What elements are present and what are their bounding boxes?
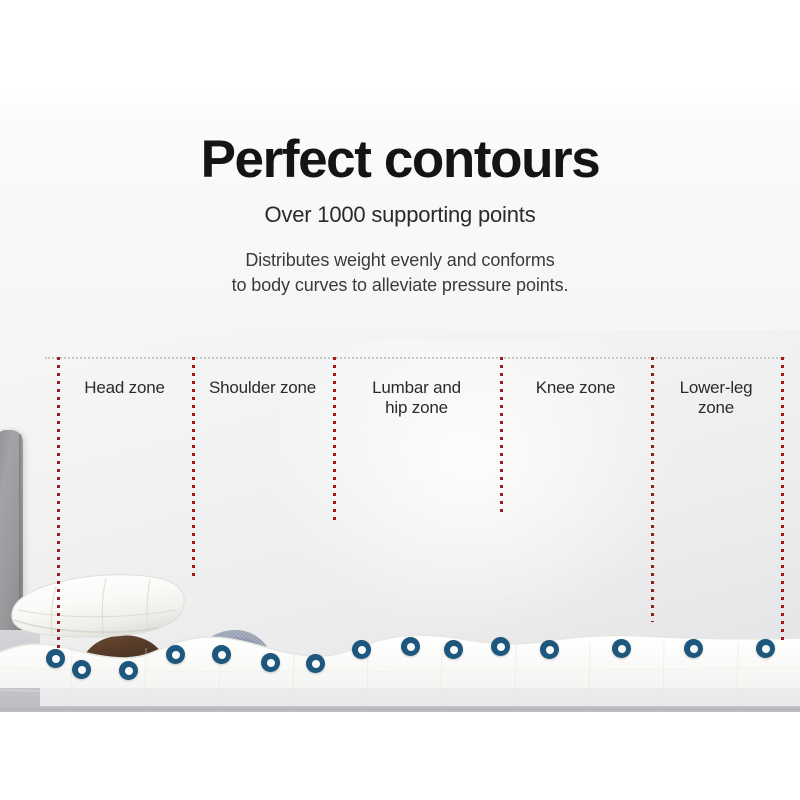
support-point-marker <box>72 660 91 679</box>
support-point-marker <box>166 645 185 664</box>
support-point-marker <box>212 645 231 664</box>
support-point-marker <box>684 639 703 658</box>
zone-divider-6 <box>781 357 784 640</box>
description: Distributes weight evenly and conforms t… <box>0 248 800 298</box>
zone-divider-1 <box>57 357 60 652</box>
zone-label-line-1: Lower-leg <box>651 378 781 398</box>
zone-label-line-1: Shoulder zone <box>192 378 333 398</box>
description-line-2: to body curves to alleviate pressure poi… <box>0 273 800 298</box>
zone-label-line-1: Head zone <box>57 378 192 398</box>
zone-label-line-1: Lumbar and <box>333 378 500 398</box>
mattress-base <box>0 706 800 712</box>
background-top <box>0 0 800 95</box>
zone-label-2: Shoulder zone <box>192 378 333 398</box>
page-title: Perfect contours <box>0 130 800 190</box>
zone-label-line-1: Knee zone <box>500 378 651 398</box>
zone-label-3: Lumbar andhip zone <box>333 378 500 418</box>
support-point-marker <box>306 654 325 673</box>
zone-label-line-2: hip zone <box>333 398 500 418</box>
background-bottom <box>0 712 800 800</box>
support-point-marker <box>612 639 631 658</box>
support-point-marker <box>46 649 65 668</box>
support-point-marker <box>540 640 559 659</box>
support-point-marker <box>491 637 510 656</box>
support-point-marker <box>352 640 371 659</box>
zone-label-line-2: zone <box>651 398 781 418</box>
zone-label-1: Head zone <box>57 378 192 398</box>
support-point-marker <box>401 637 420 656</box>
zone-top-guide-line <box>45 357 785 359</box>
zone-label-5: Lower-legzone <box>651 378 781 418</box>
product-feature-image: Perfect contours Over 1000 supporting po… <box>0 0 800 800</box>
description-line-1: Distributes weight evenly and conforms <box>0 248 800 273</box>
zone-label-4: Knee zone <box>500 378 651 398</box>
mattress-quilt-texture <box>0 642 800 712</box>
support-point-marker <box>444 640 463 659</box>
support-point-marker <box>756 639 775 658</box>
support-point-marker <box>261 653 280 672</box>
support-point-marker <box>119 661 138 680</box>
subtitle: Over 1000 supporting points <box>0 201 800 229</box>
